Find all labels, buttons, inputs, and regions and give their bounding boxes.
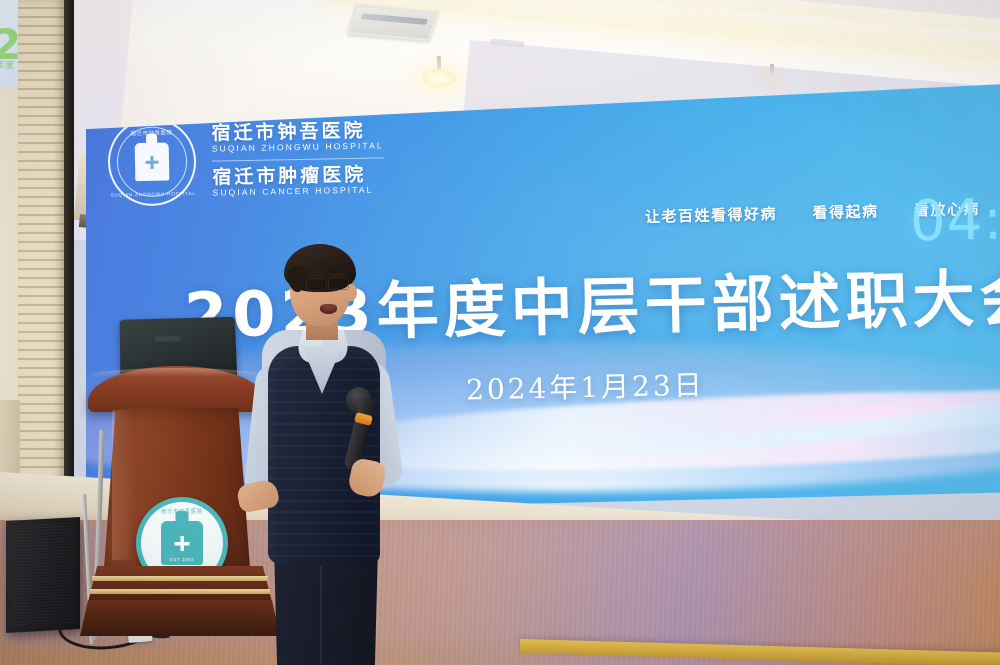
hospital-name-block: 宿迁市钟吾医院 SUQIAN ZHONGWU HOSPITAL 宿迁市肿瘤医院 … [211,121,384,197]
seal-arc-bottom-text: SUQIAN ZHONGWU HOSPITAL [111,191,195,198]
hospital-name-en-primary: SUQIAN ZHONGWU HOSPITAL [212,141,384,153]
glasses-lens-left [306,278,327,291]
slogan-spacer-2 [885,216,907,217]
secondary-screen-caption: 年度 [0,58,14,71]
podium-highlight [112,410,134,560]
event-date: 2024年1月23日 [466,364,705,409]
conference-photo: 2 年度 宿迁市钟吾医院 SUQIAN ZHONGWU HOSPITAL 宿迁市… [0,0,1000,665]
logo-divider [212,157,384,161]
speaker-person [228,246,418,665]
trouser-crease [320,566,322,665]
glasses-lens-right [328,277,349,290]
seal-emblem-glyph [135,142,170,181]
ceiling-downlight [437,56,441,70]
hospital-name-en-secondary: SUQIAN CANCER HOSPITAL [213,185,385,197]
slogan-part-1: 让老百姓看得好病 [645,205,777,226]
hospital-logo-block: 宿迁市钟吾医院 SUQIAN ZHONGWU HOSPITAL 宿迁市钟吾医院 … [107,113,385,206]
hospital-seal-icon: 宿迁市钟吾医院 SUQIAN ZHONGWU HOSPITAL [107,117,197,207]
speaker-brow-right [329,273,345,277]
podium-emblem-est: EST 2002 [141,557,223,562]
countdown-timer: 04:1 [910,187,1000,255]
speaker-mouth [320,304,337,314]
slogan-spacer [784,218,806,219]
slogan-part-2: 看得起病 [812,202,878,222]
